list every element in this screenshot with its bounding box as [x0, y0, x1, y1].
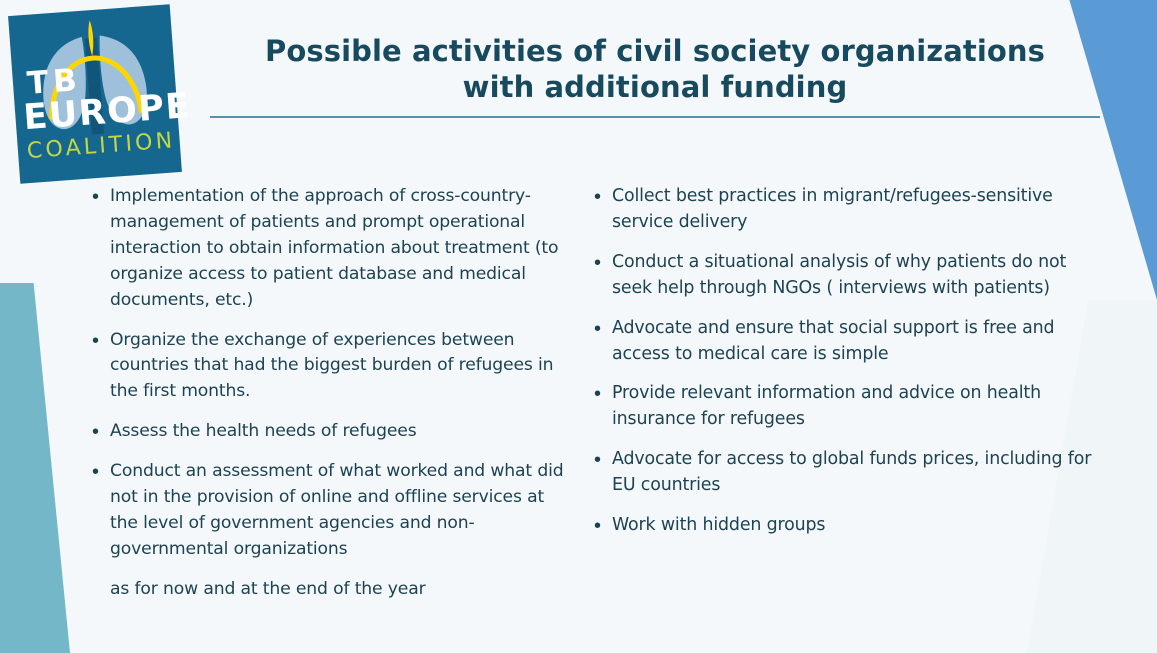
- bullet-dot-icon: •: [594, 184, 612, 210]
- list-item: • Collect best practices in migrant/refu…: [594, 184, 1097, 236]
- list-item: • Advocate and ensure that social suppor…: [594, 316, 1097, 368]
- list-item: • Conduct a situational analysis of why …: [594, 250, 1097, 302]
- title-divider: [210, 116, 1100, 118]
- bullet-dot-icon: •: [92, 328, 110, 354]
- bullet-dot-icon: •: [92, 459, 110, 485]
- list-item: • Provide relevant information and advic…: [594, 381, 1097, 433]
- list-item-text: Work with hidden groups: [612, 513, 1097, 539]
- list-item: • Organize the exchange of experiences b…: [92, 328, 574, 406]
- list-item-text: Conduct an assessment of what worked and…: [110, 459, 574, 563]
- trailing-paragraph: as for now and at the end of the year: [110, 577, 574, 603]
- list-item-text: Advocate and ensure that social support …: [612, 316, 1097, 368]
- list-item: • Conduct an assessment of what worked a…: [92, 459, 574, 563]
- list-item: • Implementation of the approach of cros…: [92, 184, 574, 314]
- slide-canvas: TB EUROPE COALITION Possible activities …: [0, 0, 1157, 653]
- list-item-text: Implementation of the approach of cross-…: [110, 184, 574, 314]
- logo-wordmark: TB EUROPE COALITION: [12, 58, 180, 164]
- list-item: • Assess the health needs of refugees: [92, 419, 574, 445]
- bullet-dot-icon: •: [594, 513, 612, 539]
- list-item-text: Advocate for access to global funds pric…: [612, 447, 1097, 499]
- bullet-dot-icon: •: [92, 184, 110, 210]
- right-bullet-column: • Collect best practices in migrant/refu…: [590, 184, 1157, 603]
- content-columns: • Implementation of the approach of cros…: [0, 184, 1157, 603]
- list-item-text: Assess the health needs of refugees: [110, 419, 574, 445]
- bullet-dot-icon: •: [594, 250, 612, 276]
- bullet-dot-icon: •: [594, 316, 612, 342]
- page-title: Possible activities of civil society org…: [210, 34, 1100, 106]
- title-line-2: with additional funding: [210, 70, 1100, 106]
- list-item-text: Provide relevant information and advice …: [612, 381, 1097, 433]
- title-line-1: Possible activities of civil society org…: [210, 34, 1100, 70]
- bullet-dot-icon: •: [594, 447, 612, 473]
- list-item-text: Conduct a situational analysis of why pa…: [612, 250, 1097, 302]
- tb-europe-coalition-logo: TB EUROPE COALITION: [8, 4, 182, 183]
- left-bullet-column: • Implementation of the approach of cros…: [0, 184, 590, 603]
- list-item-text: Collect best practices in migrant/refuge…: [612, 184, 1097, 236]
- list-item: • Work with hidden groups: [594, 513, 1097, 539]
- bullet-dot-icon: •: [594, 381, 612, 407]
- list-item: • Advocate for access to global funds pr…: [594, 447, 1097, 499]
- list-item-text: Organize the exchange of experiences bet…: [110, 328, 574, 406]
- bullet-dot-icon: •: [92, 419, 110, 445]
